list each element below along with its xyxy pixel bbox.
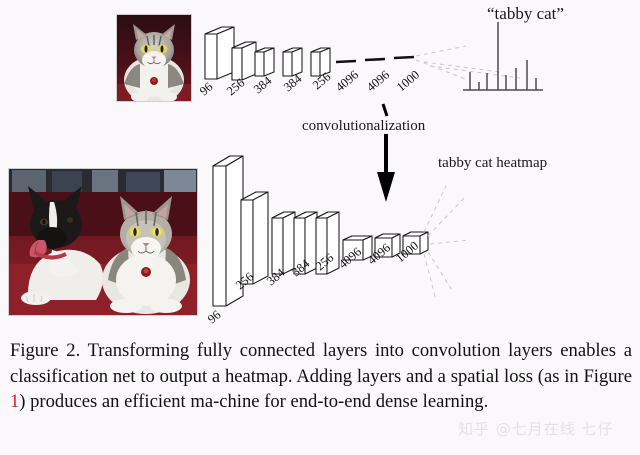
layer-label: 384 [264,265,288,288]
layer-label: 384 [281,71,305,94]
classification-net-layer-labels: 96 256 384 384 256 4096 4096 1000 [197,68,422,99]
figure-caption: Figure 2. Transforming fully connected l… [10,338,632,415]
caption-text-after-ref: ) produces an efficient ma-chine for end… [19,391,488,412]
caption-text-before-ref: Figure 2. Transforming fully connected l… [10,340,632,387]
figure-2: “tabby cat” convolutionalization tabby c… [0,0,640,455]
score-projection-rays [416,46,520,80]
figure-1-reference-link[interactable]: 1 [10,391,19,412]
layer-label: 384 [251,73,275,96]
photo-border [8,168,198,316]
layer-label: 256 [313,251,336,274]
layer-label: 4096 [336,245,364,272]
arrow-leader-tick [383,104,387,116]
layer-label: 256 [224,76,247,99]
layer-label: 96 [197,80,216,99]
layer-label: 1000 [393,239,421,266]
classification-net-blocks [205,27,414,80]
fully-convolutional-net-blocks [213,156,428,306]
layer-label: 1000 [394,68,422,95]
layer-label: 4096 [364,68,392,95]
convolutionalization-arrow [377,134,395,202]
dog-and-cat-photo [8,168,198,316]
class-score-plot [463,22,543,90]
tabby-cat-photo [116,14,192,102]
layer-label: 4096 [365,241,393,268]
photo-border [116,14,192,102]
convolutionalization-label: convolutionalization [302,118,425,135]
fully-convolutional-net-layer-labels: 96 256 384 384 256 4096 4096 1000 [205,239,421,327]
layer-label: 256 [233,270,256,293]
zhihu-watermark: 知乎 @七月在线 七仔 [458,418,614,439]
heatmap-projection-rays [424,186,470,300]
layer-label: 96 [205,308,224,327]
tabby-cat-prediction-label: “tabby cat” [487,4,564,24]
layer-label: 4096 [333,68,361,95]
layer-label: 256 [310,70,333,93]
layer-label: 384 [289,256,313,279]
tabby-cat-heatmap-label: tabby cat heatmap [438,155,547,172]
